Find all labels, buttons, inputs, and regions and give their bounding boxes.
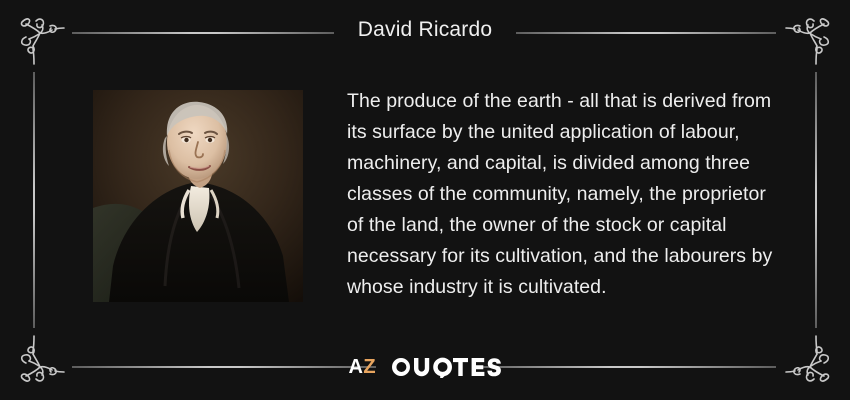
divider-left: [33, 72, 35, 328]
az-quotes-logo[interactable]: AZ: [0, 356, 850, 378]
quote-body: The produce of the earth - all that is d…: [347, 86, 779, 303]
author-portrait: [93, 90, 303, 302]
quote-card: David Ricardo: [0, 0, 850, 400]
logo-letter-a: A: [348, 356, 363, 378]
divider-right: [815, 72, 817, 328]
author-name: David Ricardo: [0, 18, 850, 42]
logo-letter-z: Z: [363, 356, 376, 378]
logo-quotes-wordmark: [390, 356, 502, 378]
